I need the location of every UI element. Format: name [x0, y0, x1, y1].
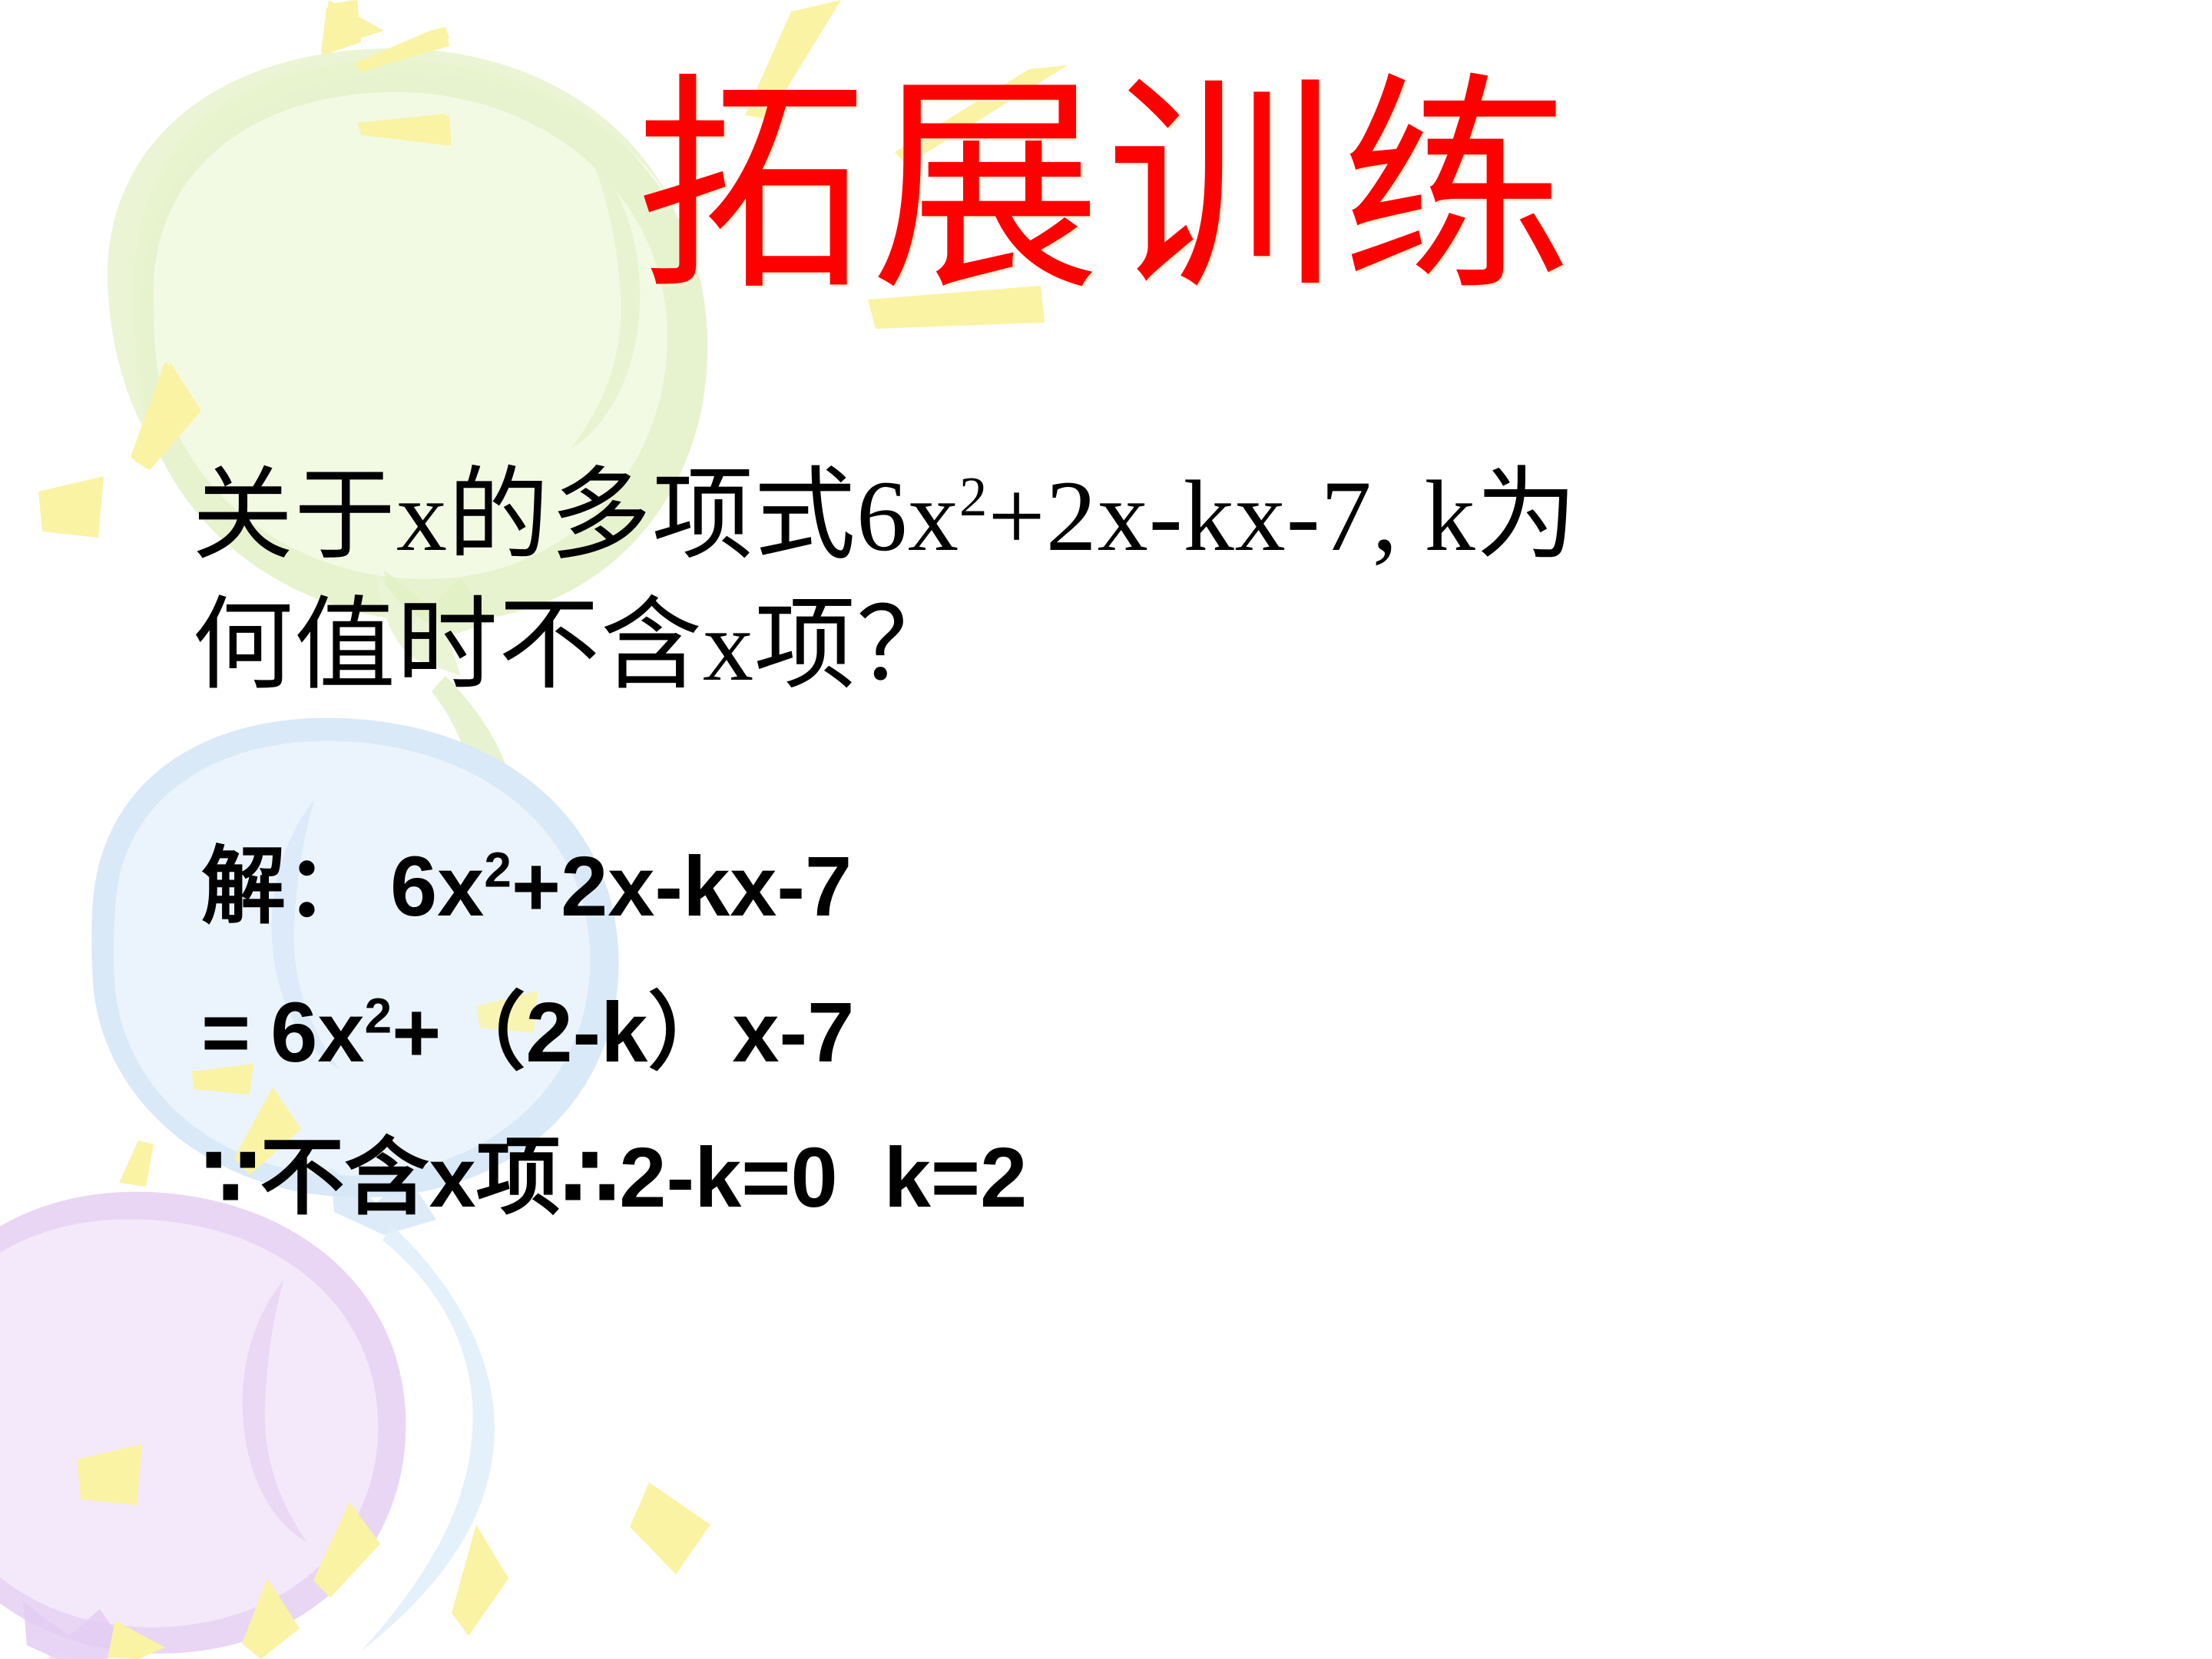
solution-line3-variable: x	[429, 1131, 476, 1225]
question-line1-part-a: 关于	[192, 459, 396, 572]
question-line-1: 关于x的多项式6x2+2x-kx-7, k为	[192, 452, 1974, 581]
solution-line3-equation-2: k=2	[884, 1131, 1028, 1225]
solution-label: 解：	[201, 840, 370, 934]
question-line1-part-f: 为	[1476, 459, 1578, 572]
solution-line-1: 解：6x2+2x-kx-7	[201, 814, 2045, 960]
question-line1-exponent: 2	[959, 465, 988, 528]
solution-line1-rest: +2x-kx-7	[512, 839, 852, 934]
page-title: 拓展训练	[0, 69, 2212, 311]
equals-sign: =	[201, 985, 250, 1080]
because-symbol: ∵	[201, 1131, 260, 1225]
question-line1-expression: +2x-kx-7, k	[988, 459, 1475, 572]
solution-line-3: ∵不含x项∴2-k=0k=2	[201, 1105, 2045, 1251]
solution-text: 解：6x2+2x-kx-7 =6x2+（2-k）x-7 ∵不含x项∴2-k=0k…	[201, 814, 2045, 1252]
question-text: 关于x的多项式6x2+2x-kx-7, k为 何值时不含x项？	[192, 452, 1974, 711]
solution-line2-term: 6x	[270, 985, 364, 1080]
solution-line3-text2: 项	[476, 1131, 561, 1225]
solution-line2-rest: +（2-k）x-7	[392, 985, 854, 1080]
question-line1-part-c: 的多项式	[448, 459, 856, 572]
solution-line1-term: 6x	[390, 839, 484, 934]
solution-line-2: =6x2+（2-k）x-7	[201, 960, 2045, 1105]
question-line-2: 何值时不含x项？	[192, 581, 1974, 711]
question-line2-part-a: 何值时不含	[192, 589, 703, 702]
solution-line2-exponent: 2	[365, 988, 392, 1044]
question-line2-part-c: 项？	[754, 589, 959, 702]
slide-content: 拓展训练 关于x的多项式6x2+2x-kx-7, k为 何值时不含x项？ 解：6…	[0, 0, 2212, 1659]
question-line1-term: 6x	[856, 459, 959, 572]
question-line1-variable: x	[396, 459, 448, 572]
solution-line1-exponent: 2	[484, 842, 511, 897]
presentation-slide: 拓展训练 关于x的多项式6x2+2x-kx-7, k为 何值时不含x项？ 解：6…	[0, 0, 2212, 1659]
question-line2-variable: x	[703, 589, 754, 702]
solution-line3-text: 不含	[260, 1131, 429, 1225]
therefore-symbol: ∴	[561, 1131, 620, 1225]
solution-line3-equation-1: 2-k=0	[619, 1131, 837, 1225]
